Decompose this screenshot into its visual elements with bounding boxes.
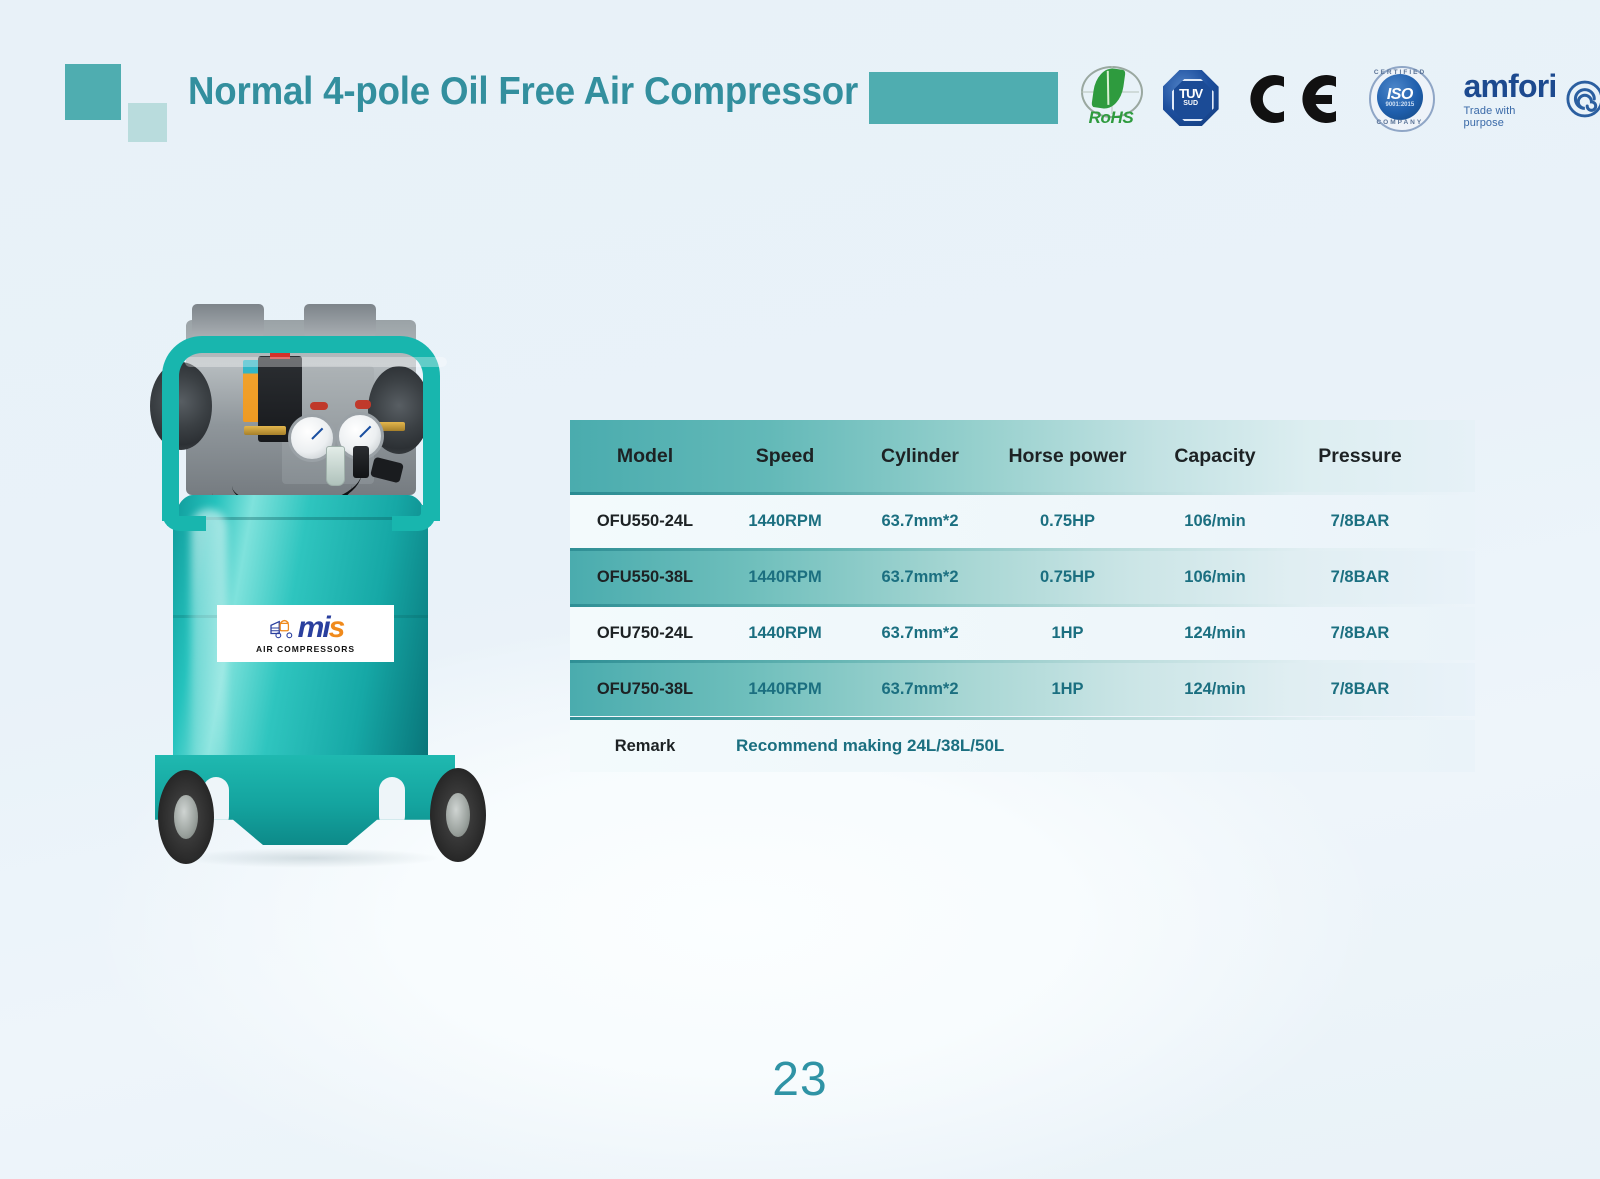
slide-page: Normal 4-pole Oil Free Air Compressor Ro…: [0, 0, 1600, 1179]
column-header-cylinder: Cylinder: [850, 445, 990, 468]
cell-horse-power: 1HP: [990, 624, 1145, 643]
brand-letter-s: s: [329, 611, 344, 644]
base-slot-right: [379, 777, 405, 829]
table-row: OFU750-38L 1440RPM 63.7mm*2 1HP 124/min …: [570, 663, 1475, 716]
remark-text: Recommend making 24L/38L/50L: [736, 736, 1004, 756]
motor-cap-right-icon: [304, 304, 376, 338]
brand-subtitle: AIR COMPRESSORS: [256, 644, 355, 654]
cell-capacity: 106/min: [1145, 568, 1285, 587]
specifications-table: Model Speed Cylinder Horse power Capacit…: [570, 420, 1475, 772]
cell-pressure: 7/8BAR: [1285, 512, 1435, 531]
cell-capacity: 124/min: [1145, 680, 1285, 699]
row-rule: [570, 717, 1475, 720]
page-title: Normal 4-pole Oil Free Air Compressor: [188, 70, 858, 114]
brand-logo-row: mis: [268, 613, 344, 643]
certification-logos: RoHS TUV SUD CERTIFIED: [1075, 63, 1600, 135]
cell-horse-power: 0.75HP: [990, 568, 1145, 587]
handle-foot-left: [162, 505, 206, 531]
cell-cylinder: 63.7mm*2: [850, 624, 990, 643]
table-remark-row: Remark Recommend making 24L/38L/50L: [570, 720, 1475, 772]
amfori-bsci-icon: amfori Trade with purpose BSCI: [1464, 70, 1600, 129]
cell-capacity: 124/min: [1145, 624, 1285, 643]
cell-pressure: 7/8BAR: [1285, 568, 1435, 587]
column-header-model: Model: [570, 445, 720, 468]
handle-foot-right: [392, 505, 436, 531]
product-image: mis AIR COMPRESSORS: [140, 300, 560, 820]
cell-pressure: 7/8BAR: [1285, 624, 1435, 643]
iso-icon: CERTIFIED ISO 9001:2015 COMPANY: [1366, 64, 1436, 134]
tuv-label: TUV: [1172, 86, 1210, 101]
column-header-speed: Speed: [720, 445, 850, 468]
brand-label: mis AIR COMPRESSORS: [217, 605, 394, 662]
header: Normal 4-pole Oil Free Air Compressor Ro…: [0, 0, 1600, 170]
rohs-icon: RoHS: [1075, 64, 1147, 134]
title-accent-bar: [869, 72, 1058, 124]
cell-pressure: 7/8BAR: [1285, 680, 1435, 699]
cell-capacity: 106/min: [1145, 512, 1285, 531]
cell-horse-power: 1HP: [990, 680, 1145, 699]
column-header-horse-power: Horse power: [990, 445, 1145, 468]
remark-label: Remark: [570, 737, 720, 756]
column-header-pressure: Pressure: [1285, 445, 1435, 468]
cell-speed: 1440RPM: [720, 680, 850, 699]
cell-cylinder: 63.7mm*2: [850, 568, 990, 587]
table-row: OFU550-38L 1440RPM 63.7mm*2 0.75HP 106/m…: [570, 551, 1475, 604]
product-shadow: [180, 848, 440, 868]
row-rule: [570, 660, 1475, 663]
row-rule: [570, 548, 1475, 551]
tuv-icon: TUV SUD: [1159, 68, 1223, 130]
ce-icon: [1244, 69, 1340, 129]
brand-letter-m: m: [298, 611, 323, 644]
iso-arc-bottom-label: COMPANY: [1374, 119, 1426, 126]
row-rule: [570, 604, 1475, 607]
brand-wordmark: mis: [298, 613, 344, 643]
amfori-spiral-icon: [1566, 80, 1600, 118]
carry-handle: [162, 336, 440, 521]
motor-cap-left-icon: [192, 304, 264, 338]
cell-horse-power: 0.75HP: [990, 512, 1145, 531]
cell-cylinder: 63.7mm*2: [850, 512, 990, 531]
decor-square-small-icon: [128, 103, 167, 142]
cell-speed: 1440RPM: [720, 568, 850, 587]
table-header-row: Model Speed Cylinder Horse power Capacit…: [570, 420, 1475, 492]
iso-sublabel: 9001:2015: [1377, 102, 1423, 108]
rohs-label: RoHS: [1077, 108, 1145, 128]
decor-square-large-icon: [65, 64, 121, 120]
cell-speed: 1440RPM: [720, 512, 850, 531]
table-row: OFU750-24L 1440RPM 63.7mm*2 1HP 124/min …: [570, 607, 1475, 660]
column-header-capacity: Capacity: [1145, 445, 1285, 468]
cell-model: OFU550-24L: [570, 512, 720, 531]
cell-model: OFU550-38L: [570, 568, 720, 587]
cell-speed: 1440RPM: [720, 624, 850, 643]
cell-model: OFU750-24L: [570, 624, 720, 643]
tuv-sublabel: SUD: [1172, 100, 1210, 107]
compressor-glyph-icon: [268, 617, 296, 639]
amfori-label: amfori: [1464, 70, 1559, 102]
cell-cylinder: 63.7mm*2: [850, 680, 990, 699]
amfori-tagline: Trade with purpose: [1464, 105, 1559, 129]
page-number: 23: [0, 1052, 1600, 1107]
table-row: OFU550-24L 1440RPM 63.7mm*2 0.75HP 106/m…: [570, 495, 1475, 548]
cell-model: OFU750-38L: [570, 680, 720, 699]
